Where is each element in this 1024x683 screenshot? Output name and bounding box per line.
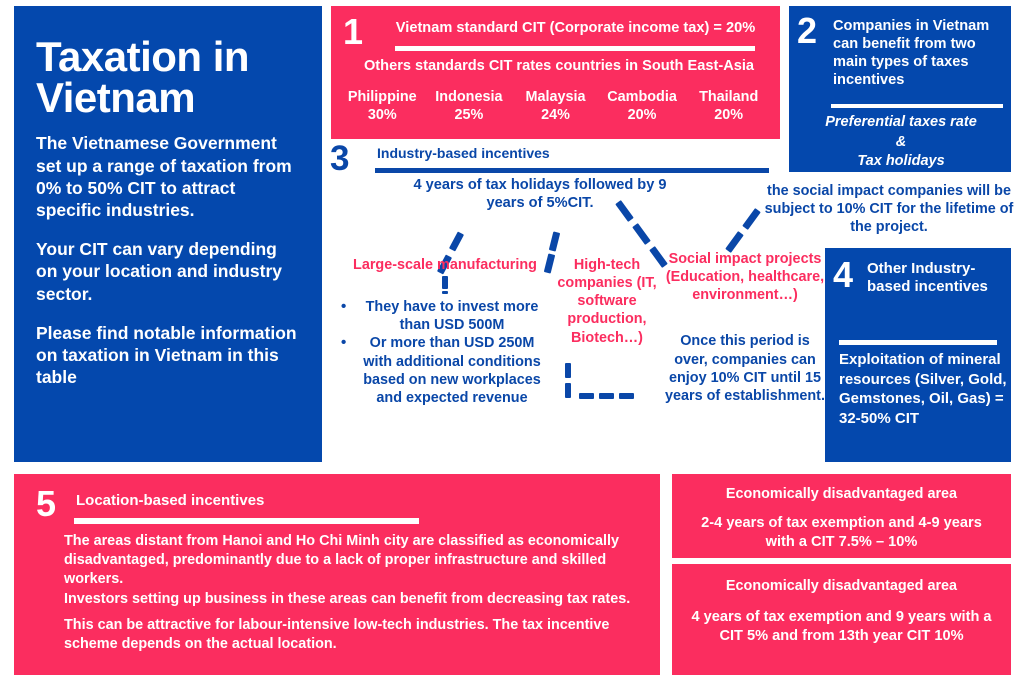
hero-paragraph-3: Please find notable information on taxat…: [36, 322, 300, 389]
panel-1-divider: [395, 46, 755, 51]
country-item: Thailand 20%: [685, 88, 772, 125]
panel-1-number: 1: [343, 14, 363, 50]
connector-dash: [449, 231, 464, 251]
country-item: Cambodia 20%: [599, 88, 686, 125]
panel-4-number: 4: [833, 257, 853, 293]
country-name: Indonesia: [426, 88, 513, 106]
list-item: They have to invest more than USD 500M: [345, 298, 545, 334]
disadvantaged-area-box-1: Economically disadvantaged area 2-4 year…: [672, 474, 1011, 558]
incentive-label: High-tech companies (IT, software produc…: [537, 256, 677, 347]
country-rate: 20%: [599, 106, 686, 124]
box-title: Economically disadvantaged area: [686, 578, 997, 594]
incentive-column-high-tech: High-tech companies (IT, software produc…: [537, 256, 677, 409]
country-item: Indonesia 25%: [426, 88, 513, 125]
country-rate: 24%: [512, 106, 599, 124]
country-item: Philippine 30%: [339, 88, 426, 125]
incentive-column-large-scale: Large-scale manufacturing They have to i…: [345, 256, 545, 407]
country-name: Philippine: [339, 88, 426, 106]
panel-1-subhead: Others standards CIT rates countries in …: [353, 58, 765, 74]
hero-paragraph-1: The Vietnamese Government set up a range…: [36, 132, 300, 221]
panel-5-number: 5: [36, 486, 56, 522]
panel-2-divider: [831, 104, 1003, 108]
country-rate: 20%: [685, 106, 772, 124]
country-rate-list: Philippine 30% Indonesia 25% Malaysia 24…: [339, 88, 772, 125]
connector-dash: [742, 208, 761, 230]
incentive-body: Once this period is over, companies can …: [665, 332, 825, 405]
panel-5-location-incentives: 5 Location-based incentives The areas di…: [14, 474, 660, 675]
box-detail: 2-4 years of tax exemption and 4-9 years…: [686, 514, 997, 552]
country-item: Malaysia 24%: [512, 88, 599, 125]
panel-3-industry-incentives: 3 Industry-based incentives 4 years of t…: [325, 140, 825, 470]
box-title: Economically disadvantaged area: [686, 486, 997, 502]
panel-4-headline: Other Industry-based incentives: [867, 260, 1003, 297]
panel-3-divider: [375, 168, 769, 173]
panel-4-divider: [839, 340, 997, 345]
disadvantaged-area-box-2: Economically disadvantaged area 4 years …: [672, 564, 1011, 675]
incentive-bullet-list: They have to invest more than USD 500M O…: [345, 298, 545, 407]
country-rate: 25%: [426, 106, 513, 124]
panel-2-number: 2: [797, 13, 817, 49]
panel-5-headline: Location-based incentives: [76, 492, 264, 509]
country-name: Malaysia: [512, 88, 599, 106]
connector-dash: [632, 223, 651, 245]
panel-3-lead-text: 4 years of tax holidays followed by 9 ye…: [400, 176, 680, 213]
panel-4-other-incentives: 4 Other Industry-based incentives Exploi…: [825, 248, 1011, 462]
page-title: Taxation in Vietnam: [36, 36, 300, 118]
hero-panel: Taxation in Vietnam The Vietnamese Gover…: [14, 6, 322, 462]
panel-4-body: Exploitation of mineral resources (Silve…: [839, 350, 1007, 428]
panel-2-headline: Companies in Vietnam can benefit from tw…: [833, 17, 1005, 89]
social-impact-note: the social impact companies will be subj…: [760, 182, 1018, 236]
panel-5-block-3: This can be attractive for labour-intens…: [64, 616, 649, 654]
list-item: Or more than USD 250M with additional co…: [345, 334, 545, 407]
panel-1-standard-cit: 1 Vietnam standard CIT (Corporate income…: [331, 6, 780, 139]
column-2-dash-arrow: [537, 363, 677, 409]
hero-paragraph-2: Your CIT can vary depending on your loca…: [36, 238, 300, 305]
panel-5-block-2: Investors setting up business in these a…: [64, 590, 649, 609]
panel-5-divider: [74, 518, 419, 524]
box-detail: 4 years of tax exemption and 9 years wit…: [686, 608, 997, 646]
column-1-dash-marker: [345, 274, 545, 292]
panel-3-headline: Industry-based incentives: [377, 145, 550, 161]
incentive-label: Social impact projects (Education, healt…: [665, 250, 825, 304]
incentive-column-social-impact: Social impact projects (Education, healt…: [665, 250, 825, 405]
benefit-tax-holidays: Tax holidays: [801, 152, 1001, 172]
panel-2-benefits: Preferential taxes rate & Tax holidays: [801, 113, 1001, 172]
benefit-preferential-rate: Preferential taxes rate: [801, 113, 1001, 133]
country-rate: 30%: [339, 106, 426, 124]
benefit-ampersand: &: [801, 133, 1001, 153]
country-name: Thailand: [685, 88, 772, 106]
panel-5-block-1: The areas distant from Hanoi and Ho Chi …: [64, 532, 649, 589]
panel-1-headline: Vietnam standard CIT (Corporate income t…: [383, 20, 768, 36]
panel-3-number: 3: [330, 141, 349, 176]
country-name: Cambodia: [599, 88, 686, 106]
connector-dash: [549, 231, 560, 251]
incentive-label: Large-scale manufacturing: [345, 256, 545, 274]
